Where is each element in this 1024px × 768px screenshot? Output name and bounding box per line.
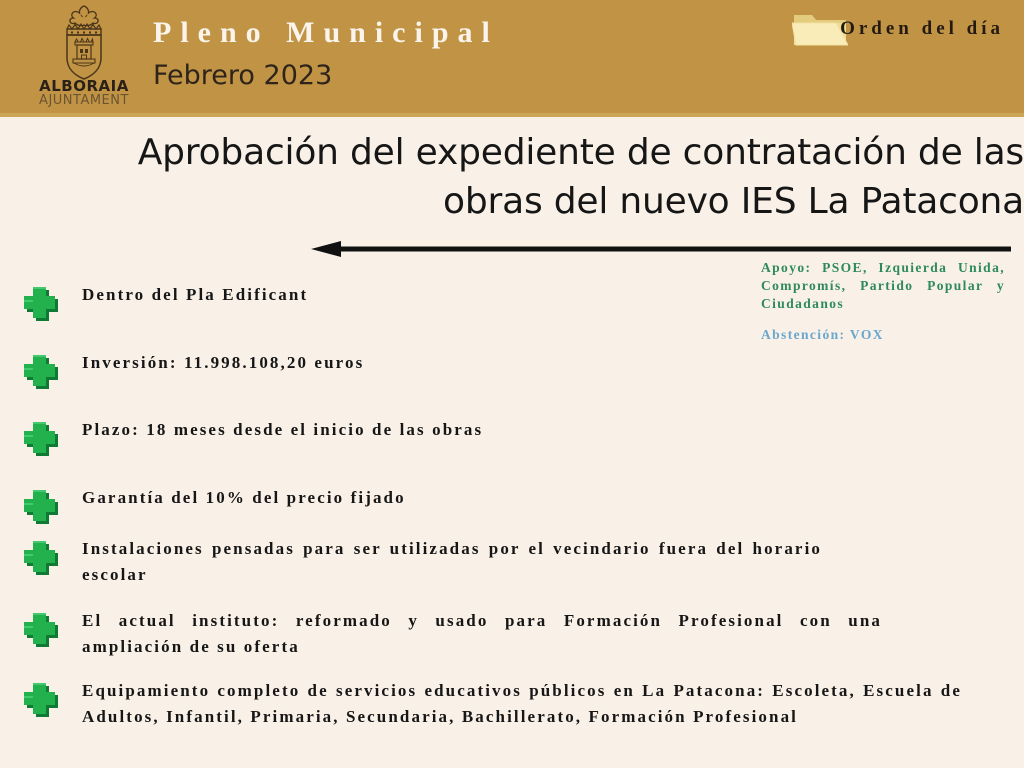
- green-plus-icon: [18, 536, 62, 578]
- bullet-text: Garantía del 10% del precio fijado: [62, 485, 622, 511]
- header-underline-divider: [0, 113, 1024, 117]
- page-title: Aprobación del expediente de contratació…: [60, 128, 1024, 226]
- green-plus-icon: [18, 282, 62, 324]
- green-plus-icon: [18, 417, 62, 459]
- green-plus-icon: [18, 485, 62, 527]
- green-plus-icon: [18, 678, 62, 720]
- bullet-item: Instalaciones pensadas para ser utilizad…: [18, 536, 822, 588]
- bullet-text: Instalaciones pensadas para ser utilizad…: [62, 536, 822, 588]
- arrow-left-icon: [311, 238, 1011, 260]
- bullet-text: El actual instituto: reformado y usado p…: [62, 608, 882, 660]
- bullet-text: Inversión: 11.998.108,20 euros: [62, 350, 582, 376]
- coat-of-arms-icon: [58, 2, 110, 80]
- vote-abstention-text: Abstención: VOX: [761, 326, 1005, 344]
- agenda-badge[interactable]: Orden del día: [792, 8, 1004, 50]
- bullet-text: Plazo: 18 meses desde el inicio de las o…: [62, 417, 742, 443]
- logo-subname: AJUNTAMENT: [32, 94, 136, 108]
- bullet-item: Equipamiento completo de servicios educa…: [18, 678, 962, 730]
- municipality-logo: ALBORAIA AJUNTAMENT: [32, 2, 136, 115]
- agenda-label: Orden del día: [840, 18, 1004, 40]
- bullet-item: El actual instituto: reformado y usado p…: [18, 608, 882, 660]
- bullet-item: Dentro del Pla Edificant: [18, 282, 532, 324]
- vote-summary: Apoyo: PSOE, Izquierda Unida, Compromís,…: [761, 259, 1005, 344]
- header-title: Pleno Municipal: [153, 16, 499, 50]
- green-plus-icon: [18, 608, 62, 650]
- header-subtitle: Febrero 2023: [153, 60, 332, 91]
- bullet-item: Garantía del 10% del precio fijado: [18, 485, 622, 527]
- header-band: ALBORAIA AJUNTAMENT Pleno Municipal Febr…: [0, 0, 1024, 117]
- bullet-item: Inversión: 11.998.108,20 euros: [18, 350, 582, 392]
- green-plus-icon: [18, 350, 62, 392]
- bullet-text: Equipamiento completo de servicios educa…: [62, 678, 962, 730]
- bullet-item: Plazo: 18 meses desde el inicio de las o…: [18, 417, 742, 459]
- vote-support-text: Apoyo: PSOE, Izquierda Unida, Compromís,…: [761, 259, 1005, 313]
- bullet-text: Dentro del Pla Edificant: [62, 282, 532, 308]
- logo-name: ALBORAIA: [32, 78, 136, 94]
